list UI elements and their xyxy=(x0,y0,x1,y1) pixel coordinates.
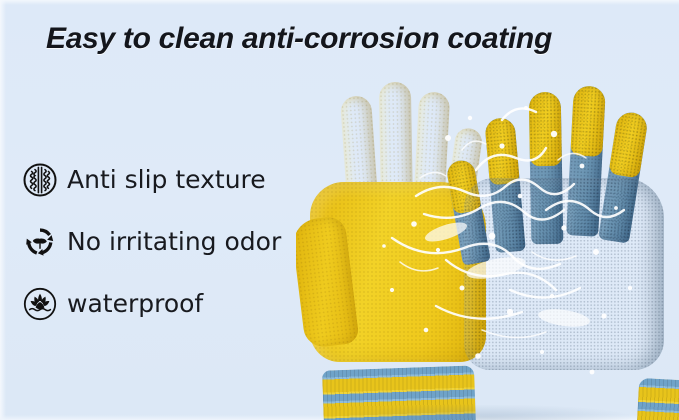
waterproof-lotus-icon xyxy=(22,286,58,322)
product-image-gloves xyxy=(296,0,679,420)
feature-label: No irritating odor xyxy=(67,228,281,256)
product-shadow xyxy=(336,404,636,420)
product-feature-poster: Easy to clean anti-corrosion coating xyxy=(0,0,679,420)
feature-item-no-odor: No irritating odor xyxy=(22,220,322,264)
striped-knit-cuff-right xyxy=(633,378,679,420)
feature-item-waterproof: waterproof xyxy=(22,282,322,326)
feature-list: Anti slip texture xyxy=(22,158,322,344)
glove-hand-back xyxy=(464,178,664,370)
blue-knit-glove-back xyxy=(446,82,679,420)
eco-recycle-leaf-icon xyxy=(22,224,58,260)
feature-label: Anti slip texture xyxy=(67,166,266,194)
feature-label: waterproof xyxy=(67,290,203,318)
left-edge-fade xyxy=(0,0,6,420)
anti-slip-texture-icon xyxy=(22,162,58,198)
feature-item-anti-slip: Anti slip texture xyxy=(22,158,322,202)
